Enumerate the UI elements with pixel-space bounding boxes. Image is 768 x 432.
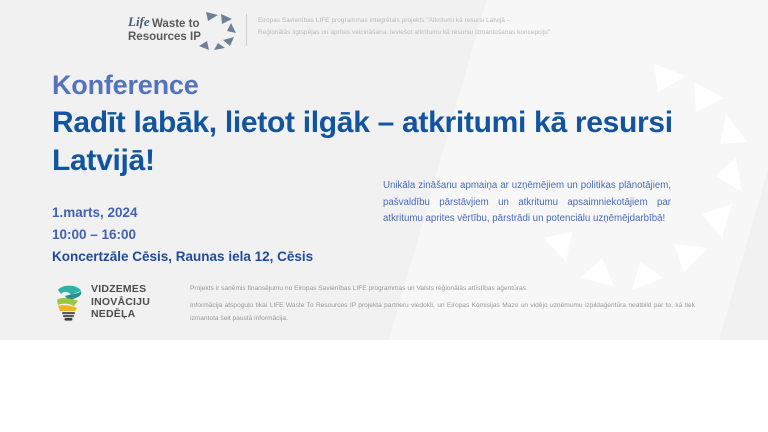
poster-canvas: Life Waste to Resources IP Eiropas Savie… (0, 0, 768, 432)
funding-disclaimer: Projekts ir saņēmis finansējumu no Eirop… (190, 283, 695, 326)
vin-line-2: INOVĀCIJU (91, 296, 150, 308)
vin-wordmark: VIDZEMES INOVĀCIJU NEDĒĻA (91, 283, 150, 320)
vin-line-3: NEDĒĻA (91, 308, 150, 320)
header-divider (246, 14, 247, 46)
svg-text:Resources IP: Resources IP (128, 31, 201, 43)
event-location: Koncertzāle Cēsis, Raunas iela 12, Cēsis (52, 246, 313, 268)
header-project-line-2: Reģionālās ilgtspējas un aprites veicinā… (258, 27, 698, 39)
header-project-line-1: Eiropas Savienības LIFE programmas integ… (258, 15, 698, 27)
svg-text:Waste to: Waste to (152, 18, 200, 30)
disclaimer-line-1: Projekts ir saņēmis finansējumu no Eirop… (190, 283, 695, 296)
event-details: 1.marts, 2024 10:00 – 16:00 Koncertzāle … (52, 202, 313, 268)
event-time: 10:00 – 16:00 (52, 224, 313, 246)
event-kicker: Konference (52, 70, 199, 101)
event-date: 1.marts, 2024 (52, 202, 313, 224)
life-waste-to-resources-logo: Life Waste to Resources IP (126, 10, 238, 52)
vidzemes-inovaciju-nedela-logo: VIDZEMES INOVĀCIJU NEDĒĻA (52, 282, 150, 322)
event-title: Radīt labāk, lietot ilgāk – atkritumi kā… (52, 104, 677, 181)
disclaimer-line-2: Informācija atspoguļo tikai LIFE Waste T… (190, 300, 695, 326)
partner-logo-band: ★ ★ ★ ★ ★ ★ ★ ★ ★ ★ ★ ★ Life R (0, 340, 768, 432)
poster-header: Life Waste to Resources IP Eiropas Savie… (0, 0, 768, 58)
svg-text:Life: Life (127, 14, 150, 29)
event-lead-paragraph: Unikāla zināšanu apmaiņa ar uzņēmējiem u… (383, 178, 671, 228)
vin-line-1: VIDZEMES (91, 283, 150, 295)
header-project-description: Eiropas Savienības LIFE programmas integ… (258, 15, 698, 38)
lightbulb-swirl-icon (52, 282, 86, 322)
